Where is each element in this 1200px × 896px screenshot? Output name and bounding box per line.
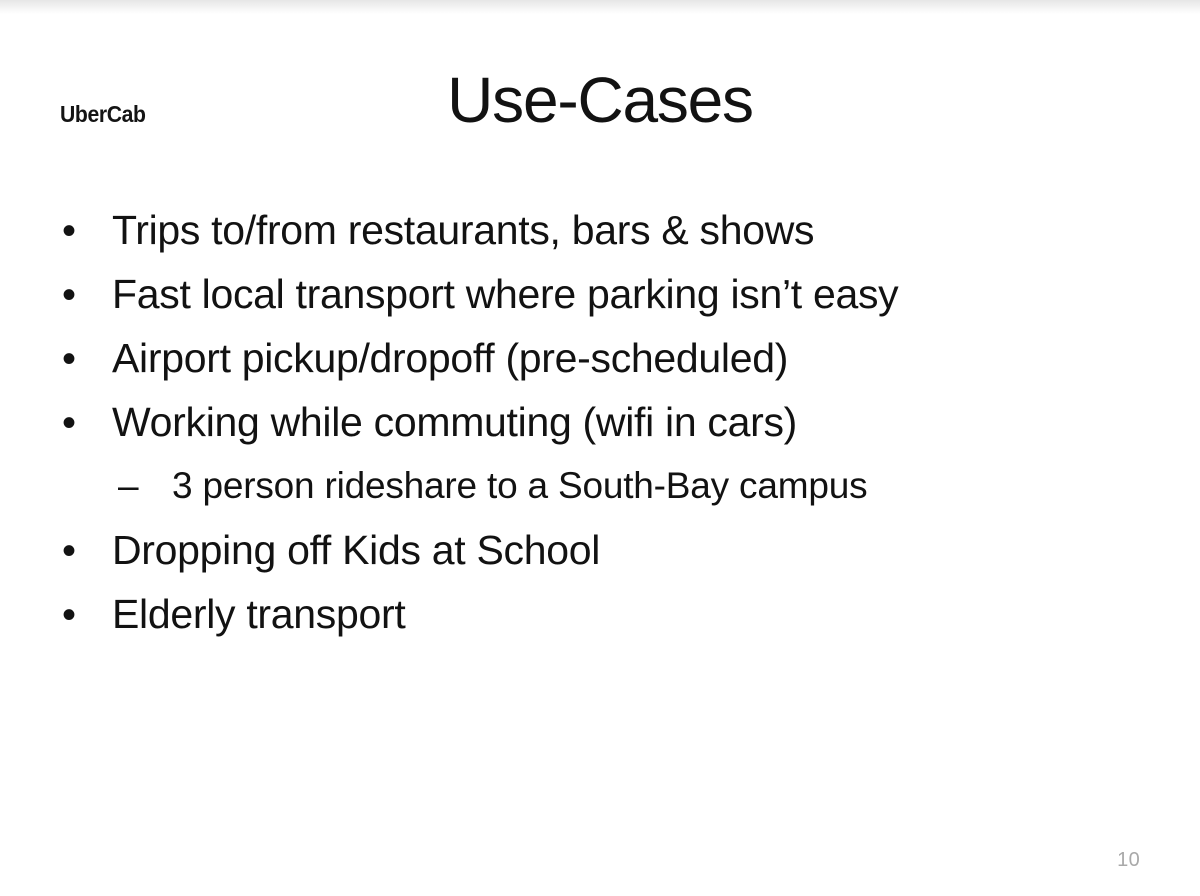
presentation-slide: UberCab Use-Cases • Trips to/from restau…	[0, 0, 1200, 896]
dash-marker-icon: –	[118, 462, 172, 510]
bullet-item: • Dropping off Kids at School	[0, 526, 1200, 590]
bullet-marker-icon: •	[62, 527, 112, 575]
bullet-marker-icon: •	[62, 271, 112, 319]
bullet-item: • Fast local transport where parking isn…	[0, 270, 1200, 334]
bullet-marker-icon: •	[62, 591, 112, 639]
bullet-marker-icon: •	[62, 207, 112, 255]
bullet-text: Airport pickup/dropoff (pre-scheduled)	[112, 334, 788, 382]
slide-top-edge-shading	[0, 0, 1200, 14]
use-cases-bullet-list: • Trips to/from restaurants, bars & show…	[0, 206, 1200, 654]
slide-page-number: 10	[1117, 849, 1140, 872]
bullet-marker-icon: •	[62, 399, 112, 447]
bullet-item: • Trips to/from restaurants, bars & show…	[0, 206, 1200, 270]
sub-bullet-item: – 3 person rideshare to a South-Bay camp…	[0, 462, 1200, 526]
bullet-text: Dropping off Kids at School	[112, 526, 600, 574]
bullet-text: Trips to/from restaurants, bars & shows	[112, 206, 814, 254]
bullet-item: • Airport pickup/dropoff (pre-scheduled)	[0, 334, 1200, 398]
sub-bullet-text: 3 person rideshare to a South-Bay campus	[172, 462, 867, 510]
bullet-item: • Elderly transport	[0, 590, 1200, 654]
bullet-marker-icon: •	[62, 335, 112, 383]
bullet-text: Working while commuting (wifi in cars)	[112, 398, 797, 446]
slide-title: Use-Cases	[0, 68, 1200, 132]
bullet-text: Fast local transport where parking isn’t…	[112, 270, 898, 318]
bullet-text: Elderly transport	[112, 590, 405, 638]
bullet-item: • Working while commuting (wifi in cars)	[0, 398, 1200, 462]
